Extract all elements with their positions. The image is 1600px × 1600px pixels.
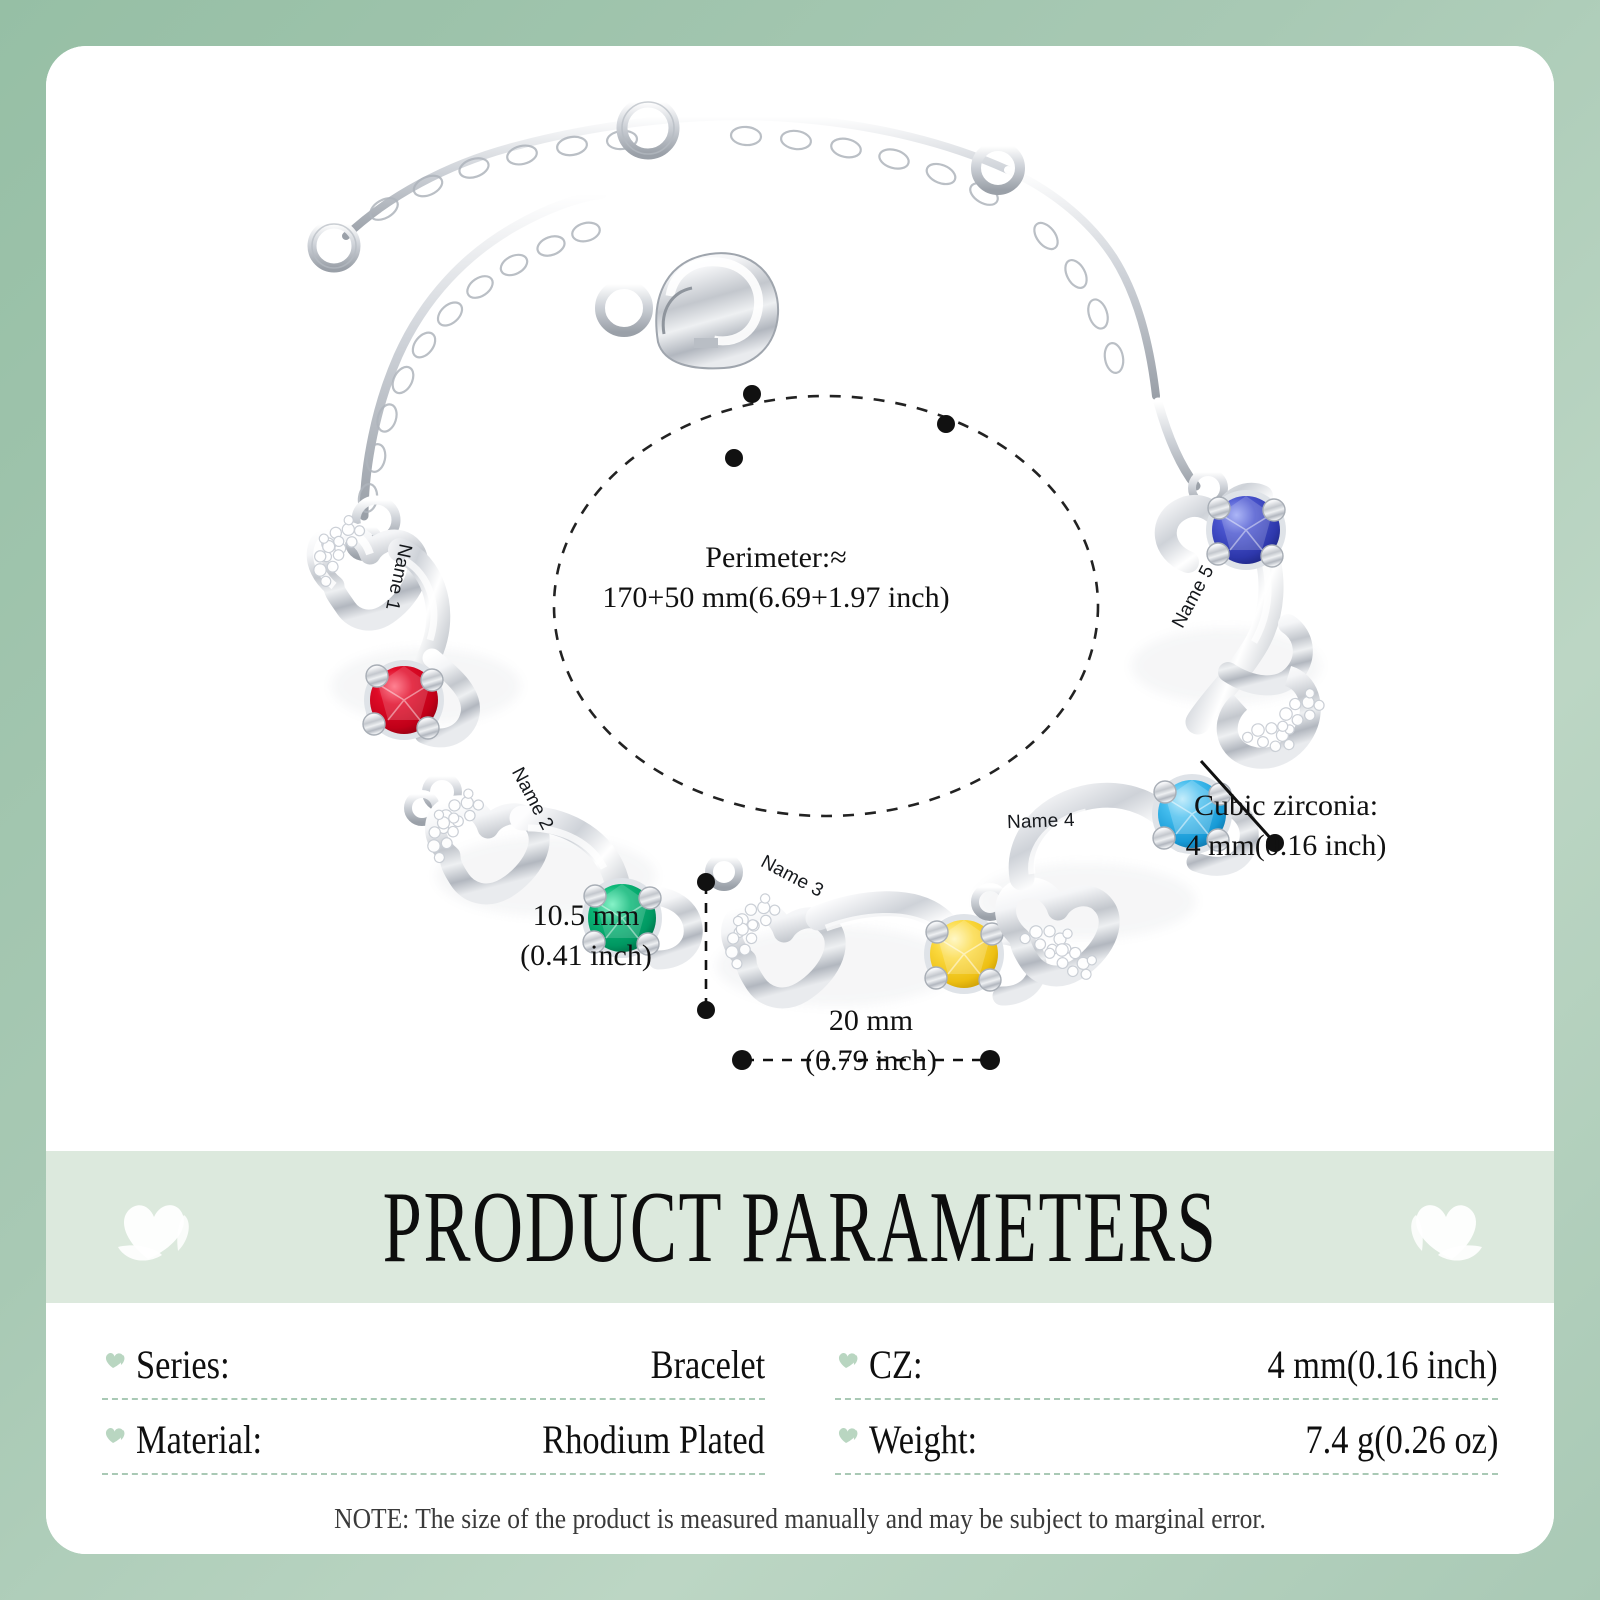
white-card: Name 1 Name 2 Name 3 Name 4 Name 5 Perim… (46, 46, 1554, 1554)
spec-table: Series: Bracelet CZ: 4 mm(0.16 inch) (46, 1303, 1554, 1554)
spec-key: Weight: (869, 1416, 977, 1463)
height-dimension-label: 10.5 mm (0.41 inch) (476, 896, 696, 975)
end-ring (312, 224, 356, 268)
jump-ring-top (622, 102, 674, 154)
chain-left (364, 194, 602, 516)
product-parameters-banner: PRODUCT PARAMETERS (46, 1151, 1554, 1303)
product-photo: Name 1 Name 2 Name 3 Name 4 Name 5 Perim… (46, 46, 1554, 1151)
spec-value: Rhodium Plated (542, 1416, 765, 1463)
chain-right (1158, 402, 1196, 486)
perimeter-dot-2 (937, 415, 955, 433)
spec-row-material: Material: Rhodium Plated (102, 1410, 765, 1475)
heart-bullet-icon (102, 1422, 126, 1446)
gem-citrine (924, 914, 1004, 994)
cubic-zirconia-annotation: Cubic zirconia: 4 mm(0.16 inch) (1136, 786, 1436, 865)
heart-leaf-ornament-icon-right (1404, 1181, 1496, 1273)
heart-bullet-icon (835, 1422, 859, 1446)
spec-row-series: Series: Bracelet (102, 1335, 765, 1400)
spec-key: Series: (136, 1341, 230, 1388)
spec-row-cz: CZ: 4 mm(0.16 inch) (835, 1335, 1498, 1400)
heart-bullet-icon (835, 1347, 859, 1371)
charm-name-4: Name 4 (1007, 810, 1075, 834)
lobster-clasp (600, 253, 778, 368)
perimeter-dot-1 (743, 385, 761, 403)
banner-title: PRODUCT PARAMETERS (383, 1168, 1218, 1286)
spec-value: 4 mm(0.16 inch) (1268, 1341, 1498, 1388)
perimeter-dot-3 (725, 449, 743, 467)
spec-key: Material: (136, 1416, 262, 1463)
gem-sapphire (1206, 490, 1286, 570)
heart-leaf-ornament-icon (104, 1181, 196, 1273)
width-dimension-label: 20 mm (0.79 inch) (746, 1001, 996, 1080)
measurement-note: NOTE: The size of the product is measure… (186, 1503, 1414, 1536)
spec-row-weight: Weight: 7.4 g(0.26 oz) (835, 1410, 1498, 1475)
perimeter-annotation: Perimeter:≈ 170+50 mm(6.69+1.97 inch) (566, 538, 986, 617)
gem-ruby (363, 660, 444, 740)
spec-value: 7.4 g(0.26 oz) (1305, 1416, 1498, 1463)
heart-bullet-icon (102, 1347, 126, 1371)
spec-key: CZ: (869, 1341, 923, 1388)
spec-value: Bracelet (650, 1341, 765, 1388)
product-infographic: Name 1 Name 2 Name 3 Name 4 Name 5 Perim… (0, 0, 1600, 1600)
